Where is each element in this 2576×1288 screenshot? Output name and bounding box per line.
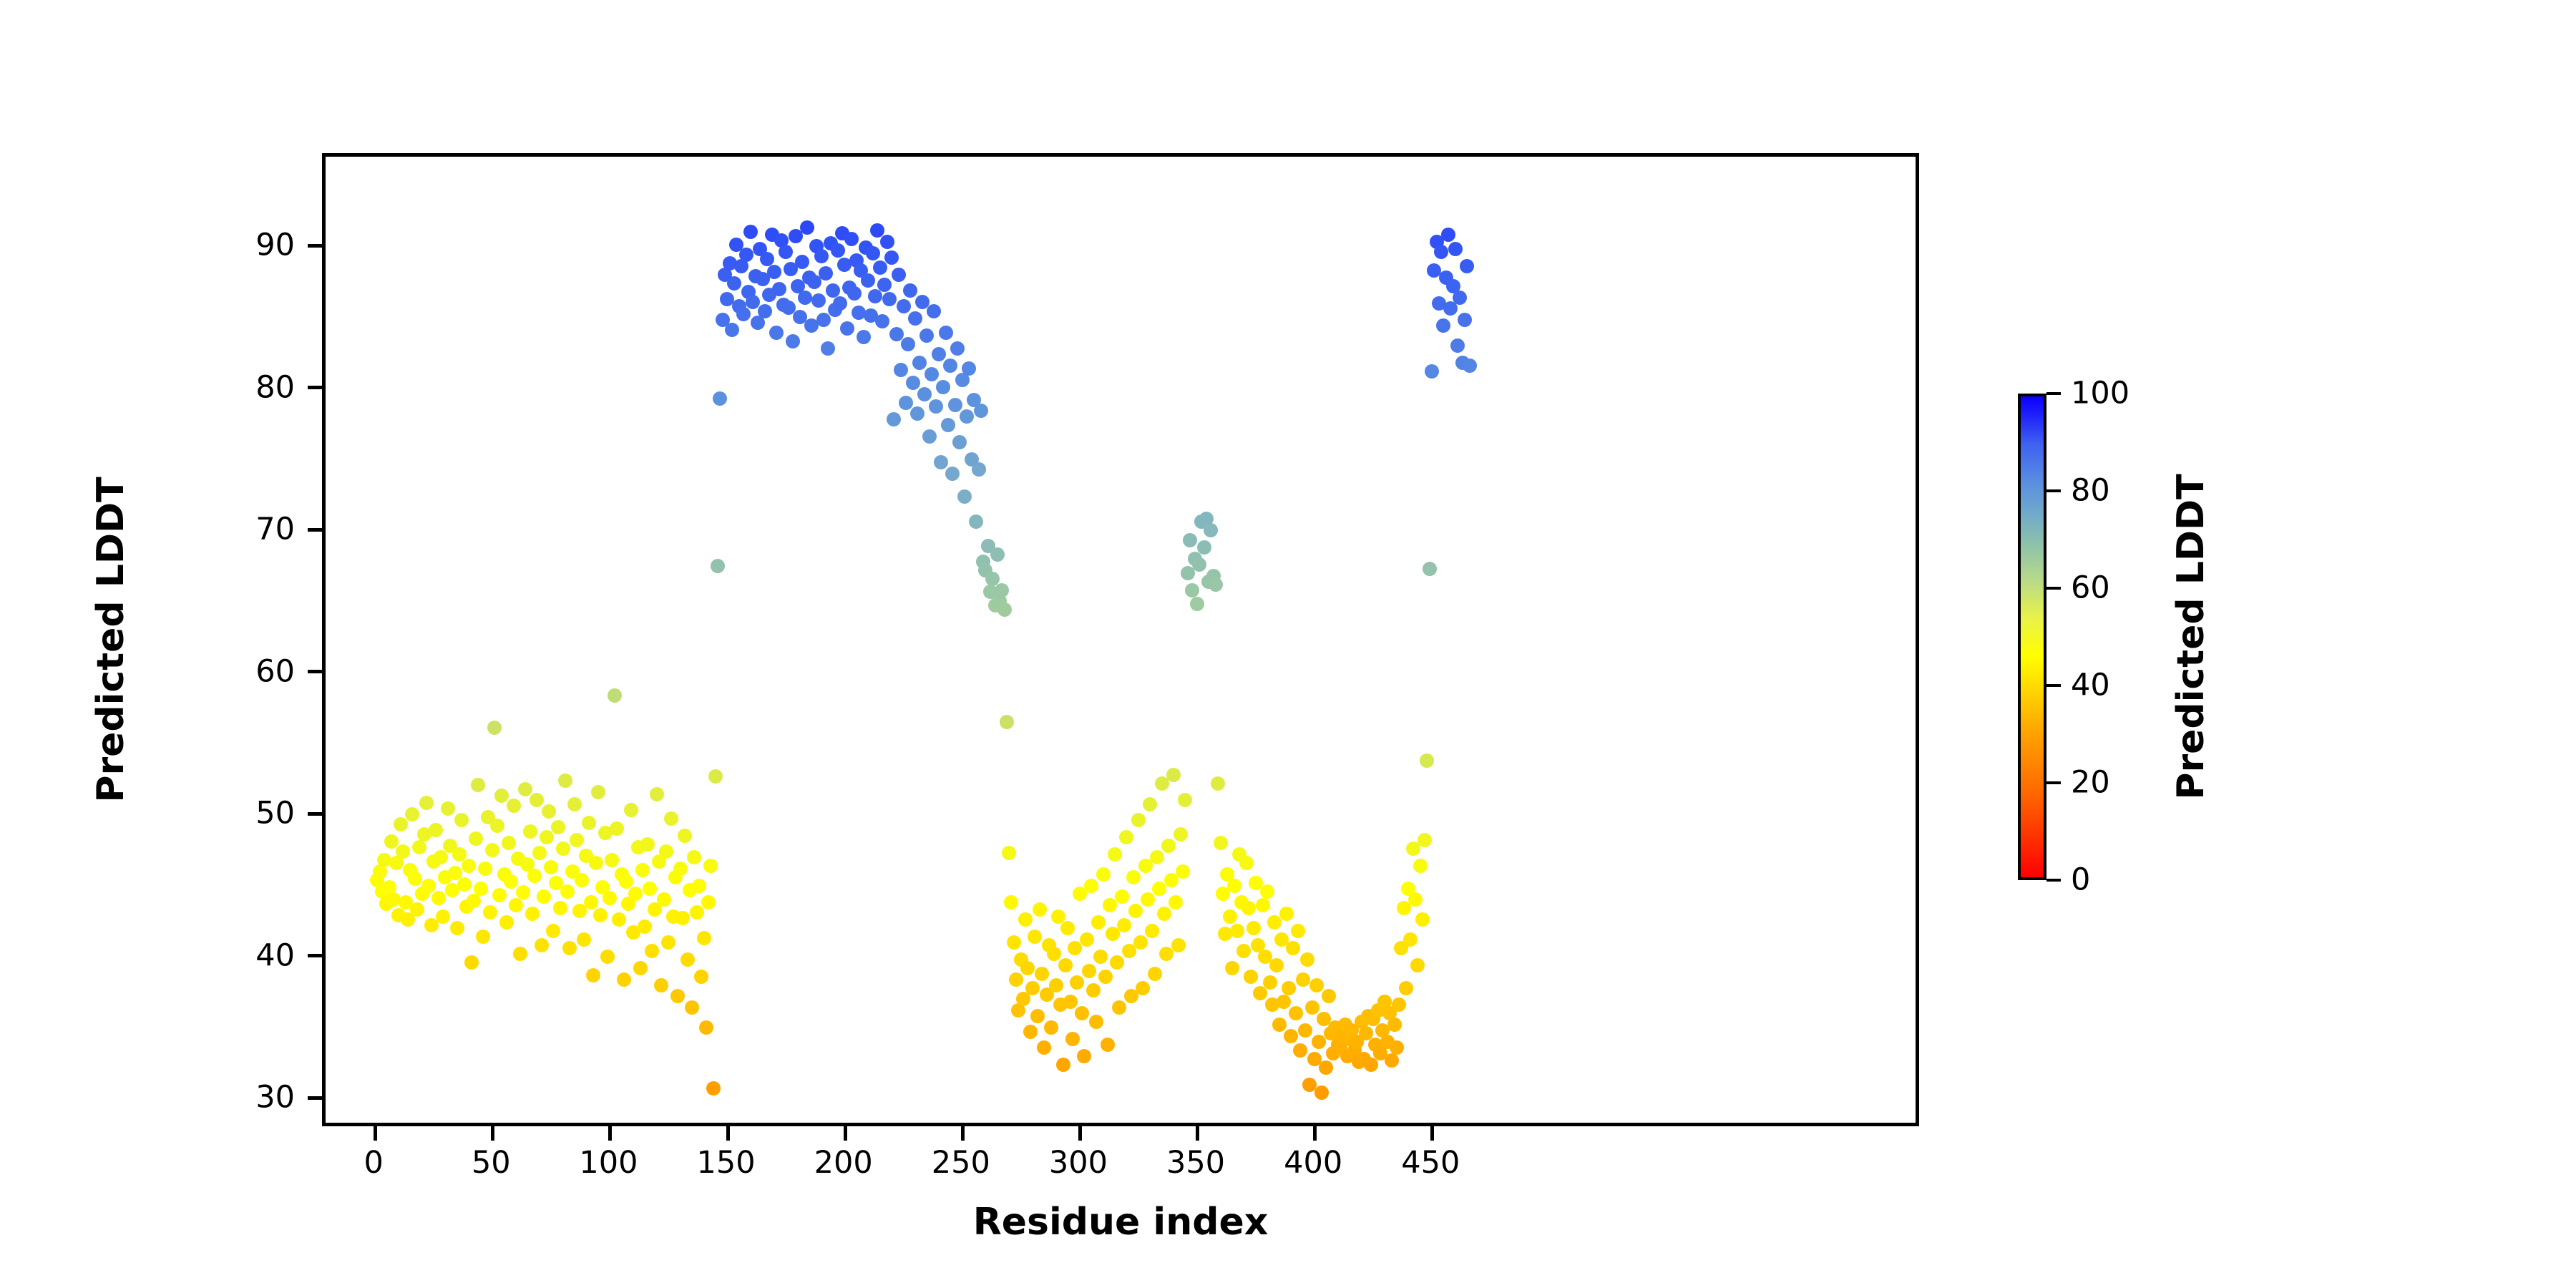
scatter-point	[1399, 981, 1413, 995]
scatter-point	[527, 869, 542, 883]
scatter-point	[1119, 830, 1133, 844]
scatter-point	[412, 840, 426, 854]
scatter-point	[912, 356, 927, 370]
scatter-point	[1298, 1023, 1312, 1038]
scatter-point	[478, 862, 492, 876]
scatter-point	[1289, 1006, 1303, 1020]
scatter-point	[485, 843, 499, 857]
scatter-point	[945, 467, 960, 481]
scatter-point	[919, 328, 934, 343]
scatter-point	[924, 367, 939, 381]
scatter-point	[1082, 964, 1096, 978]
scatter-point	[1000, 715, 1014, 729]
scatter-point	[1091, 915, 1106, 930]
x-axis-title: Residue index	[973, 1201, 1269, 1244]
scatter-point	[1387, 1018, 1402, 1032]
scatter-point	[431, 891, 446, 905]
scatter-point	[633, 961, 648, 975]
x-tick-label: 150	[697, 1148, 756, 1179]
y-tick-mark	[308, 670, 322, 673]
scatter-point	[816, 313, 831, 327]
scatter-point	[957, 489, 972, 504]
scatter-point	[661, 935, 675, 950]
scatter-point	[1033, 902, 1047, 917]
scatter-point	[405, 807, 419, 821]
scatter-point	[1236, 944, 1251, 958]
scatter-point	[725, 323, 739, 337]
y-tick-mark	[308, 386, 322, 389]
scatter-point	[467, 894, 481, 908]
scatter-point	[1322, 989, 1336, 1003]
scatter-point	[877, 278, 892, 292]
scatter-point	[934, 455, 948, 469]
y-tick-mark	[308, 812, 322, 816]
scatter-point	[840, 321, 854, 336]
scatter-point	[997, 602, 1012, 617]
scatter-point	[1227, 879, 1241, 893]
scatter-point	[628, 887, 643, 901]
scatter-point	[1183, 533, 1197, 547]
scatter-point	[932, 347, 946, 361]
scatter-point	[421, 879, 436, 893]
scatter-point	[711, 559, 725, 573]
scatter-point	[1065, 1032, 1080, 1046]
scatter-point	[464, 955, 479, 970]
scatter-point	[1136, 981, 1150, 995]
scatter-point	[593, 908, 608, 922]
scatter-point	[1192, 557, 1206, 572]
scatter-point	[703, 859, 718, 873]
colorbar-tick-label: 20	[2071, 768, 2110, 799]
y-axis-title: Predicted LDDT	[89, 477, 132, 802]
y-tick-label: 60	[255, 656, 295, 687]
x-tick-mark	[608, 1126, 612, 1141]
x-tick-mark	[491, 1126, 494, 1141]
scatter-point	[673, 862, 688, 876]
y-tick-mark	[308, 528, 322, 532]
scatter-point	[800, 220, 814, 235]
scatter-point	[556, 841, 570, 856]
x-tick-mark	[844, 1126, 847, 1141]
scatter-point	[436, 909, 450, 924]
scatter-point	[1115, 889, 1129, 904]
scatter-point	[1178, 793, 1192, 807]
x-tick-label: 100	[579, 1148, 638, 1179]
scatter-point	[936, 380, 950, 394]
scatter-point	[1068, 941, 1082, 955]
scatter-point	[1047, 947, 1061, 961]
scatter-point	[624, 803, 638, 817]
scatter-point	[1070, 975, 1084, 990]
scatter-point	[692, 879, 706, 893]
scatter-point	[1110, 955, 1124, 970]
scatter-point	[523, 824, 537, 839]
scatter-point	[1305, 1000, 1319, 1015]
x-tick-mark	[1430, 1126, 1434, 1141]
scatter-point	[1117, 918, 1131, 932]
scatter-point	[570, 833, 584, 847]
scatter-point	[1436, 318, 1450, 333]
x-tick-label: 400	[1284, 1148, 1342, 1179]
scatter-point	[1174, 827, 1188, 841]
scatter-point	[394, 817, 408, 831]
scatter-point	[638, 919, 652, 934]
scatter-point	[670, 989, 685, 1003]
scatter-point	[582, 816, 596, 830]
scatter-point	[941, 418, 955, 432]
scatter-point	[1214, 836, 1228, 850]
scatter-points-layer	[326, 157, 1916, 1123]
x-tick-mark	[1078, 1126, 1082, 1141]
scatter-point	[1086, 983, 1101, 997]
scatter-point	[1408, 892, 1423, 907]
x-tick-label: 350	[1166, 1148, 1225, 1179]
scatter-point	[1364, 1058, 1378, 1072]
scatter-point	[492, 888, 507, 902]
scatter-point	[1023, 1025, 1038, 1039]
y-tick-label: 40	[255, 940, 295, 971]
scatter-point	[602, 891, 617, 905]
scatter-point	[450, 921, 464, 935]
scatter-point	[678, 829, 692, 843]
scatter-point	[1148, 967, 1162, 981]
scatter-point	[1314, 1085, 1329, 1100]
colorbar-tick-mark	[2046, 879, 2061, 882]
scatter-point	[866, 246, 880, 260]
scatter-point	[675, 911, 690, 925]
scatter-point	[471, 778, 485, 792]
scatter-point	[1002, 846, 1016, 860]
scatter-point	[713, 391, 727, 406]
y-tick-label: 30	[255, 1083, 295, 1113]
scatter-point	[685, 1000, 699, 1015]
colorbar-tick-label: 80	[2071, 476, 2110, 507]
scatter-point	[708, 769, 723, 784]
scatter-point	[821, 341, 835, 356]
colorbar-gradient	[2018, 394, 2046, 880]
scatter-point	[1434, 245, 1448, 259]
scatter-point	[1126, 870, 1141, 884]
scatter-point	[880, 235, 894, 249]
scatter-point	[699, 1020, 713, 1035]
scatter-point	[1450, 338, 1465, 353]
scatter-point	[826, 283, 840, 298]
scatter-point	[894, 363, 908, 377]
x-tick-label: 250	[932, 1148, 990, 1179]
scatter-point	[892, 268, 906, 282]
scatter-point	[727, 276, 741, 291]
scatter-point	[462, 859, 476, 873]
scatter-point	[429, 823, 443, 837]
scatter-point	[1157, 907, 1171, 921]
scatter-point	[1145, 924, 1159, 938]
scatter-point	[908, 311, 922, 326]
scatter-point	[1103, 898, 1117, 912]
scatter-point	[1415, 912, 1430, 927]
scatter-point	[1150, 850, 1164, 864]
scatter-point	[857, 330, 871, 344]
y-tick-mark	[308, 1096, 322, 1100]
scatter-point	[1253, 986, 1267, 1000]
scatter-point	[939, 326, 953, 340]
scatter-point	[901, 337, 915, 351]
scatter-point	[1166, 768, 1181, 782]
x-tick-mark	[374, 1126, 377, 1141]
scatter-point	[1128, 904, 1143, 918]
scatter-point	[952, 435, 967, 449]
scatter-point	[448, 866, 462, 880]
scatter-point	[525, 907, 540, 921]
scatter-point	[1279, 907, 1294, 921]
scatter-point	[1063, 995, 1078, 1009]
scatter-point	[1241, 901, 1256, 915]
y-tick-label: 50	[255, 799, 295, 829]
scatter-point	[1093, 950, 1108, 964]
scatter-point	[546, 924, 560, 938]
scatter-point	[560, 884, 575, 899]
scatter-point	[950, 341, 965, 356]
scatter-point	[706, 1081, 721, 1096]
scatter-point	[680, 952, 695, 967]
scatter-point	[1077, 1049, 1091, 1063]
scatter-point	[743, 225, 758, 239]
colorbar-tick-label: 40	[2071, 670, 2110, 701]
scatter-point	[1190, 597, 1204, 611]
scatter-point	[605, 853, 619, 867]
scatter-point	[1300, 952, 1314, 967]
scatter-point	[962, 361, 976, 376]
scatter-point	[922, 429, 937, 444]
scatter-point	[1441, 228, 1455, 242]
scatter-point	[530, 793, 544, 807]
scatter-point	[1037, 1040, 1051, 1055]
scatter-point	[1204, 523, 1218, 537]
scatter-point	[875, 314, 889, 328]
scatter-point	[960, 409, 974, 424]
scatter-point	[1239, 856, 1254, 870]
scatter-point	[833, 296, 847, 311]
scatter-point	[1101, 1038, 1115, 1052]
scatter-point	[476, 930, 490, 944]
scatter-point	[1141, 892, 1155, 907]
scatter-point	[943, 358, 957, 373]
colorbar-tick-mark	[2046, 392, 2061, 395]
scatter-point	[1309, 978, 1324, 992]
x-tick-mark	[1196, 1126, 1199, 1141]
scatter-point	[537, 889, 551, 904]
scatter-point	[619, 874, 633, 889]
scatter-point	[575, 873, 589, 887]
scatter-point	[786, 334, 800, 348]
scatter-point	[779, 245, 793, 259]
scatter-point	[1211, 776, 1225, 791]
scatter-point	[457, 877, 472, 892]
scatter-point	[544, 860, 558, 874]
scatter-point	[1225, 961, 1239, 975]
scatter-point	[798, 291, 812, 305]
scatter-point	[499, 915, 514, 930]
scatter-point	[640, 837, 655, 852]
scatter-point	[1296, 972, 1310, 987]
scatter-point	[690, 905, 704, 919]
scatter-point	[1272, 1018, 1287, 1032]
scatter-point	[929, 399, 943, 414]
scatter-point	[906, 376, 920, 390]
scatter-point	[1244, 970, 1258, 984]
scatter-point	[882, 292, 897, 306]
scatter-point	[819, 266, 833, 280]
colorbar-tick-mark	[2046, 489, 2061, 492]
scatter-point	[1096, 867, 1111, 882]
scatter-point	[917, 387, 932, 401]
scatter-point	[1223, 909, 1237, 924]
scatter-point	[1058, 958, 1073, 972]
figure-canvas: 050100150200250300350400450 304050607080…	[0, 0, 2576, 1288]
colorbar-tick-label: 60	[2071, 573, 2110, 604]
scatter-point	[1131, 813, 1146, 827]
scatter-point	[1458, 313, 1472, 327]
scatter-point	[483, 905, 497, 919]
scatter-point	[659, 844, 673, 859]
scatter-point	[608, 688, 622, 703]
x-tick-label: 0	[364, 1148, 384, 1179]
scatter-point	[1284, 1029, 1298, 1043]
scatter-point	[795, 255, 809, 269]
scatter-point	[617, 972, 631, 987]
scatter-point	[1007, 935, 1021, 950]
scatter-point	[384, 834, 399, 849]
scatter-point	[1291, 924, 1305, 938]
y-tick-mark	[308, 954, 322, 957]
scatter-point	[760, 252, 774, 266]
scatter-point	[540, 830, 554, 844]
colorbar-tick-mark	[2046, 684, 2061, 687]
scatter-point	[995, 583, 1009, 597]
scatter-point	[1176, 864, 1190, 879]
scatter-point	[1089, 1015, 1103, 1029]
scatter-point	[542, 804, 556, 819]
scatter-point	[948, 398, 962, 412]
scatter-point	[1425, 364, 1439, 379]
scatter-point	[772, 282, 786, 296]
scatter-point	[502, 836, 516, 850]
scatter-point	[811, 293, 826, 308]
scatter-point	[1018, 912, 1033, 927]
scatter-point	[927, 304, 941, 318]
scatter-point	[1030, 1009, 1045, 1023]
scatter-point	[1112, 1000, 1126, 1015]
scatter-point	[1286, 941, 1300, 955]
scatter-point	[577, 932, 591, 947]
scatter-point	[562, 941, 577, 955]
scatter-point	[612, 912, 626, 927]
scatter-point	[650, 787, 664, 801]
scatter-point	[1075, 1006, 1089, 1020]
scatter-point	[1277, 995, 1291, 1009]
scatter-point	[589, 856, 603, 870]
scatter-point	[513, 947, 527, 961]
scatter-point	[844, 232, 859, 246]
scatter-point	[831, 243, 845, 258]
x-tick-mark	[726, 1126, 730, 1141]
scatter-point	[972, 462, 986, 477]
scatter-point	[1020, 961, 1035, 975]
scatter-point	[487, 721, 502, 735]
scatter-point	[441, 801, 455, 816]
scatter-point	[509, 898, 523, 912]
scatter-point	[567, 797, 582, 811]
scatter-point	[1209, 577, 1223, 592]
scatter-point	[664, 811, 678, 826]
scatter-point	[518, 782, 532, 796]
scatter-point	[469, 831, 483, 846]
y-tick-label: 70	[255, 514, 295, 545]
scatter-point	[1460, 259, 1474, 273]
scatter-point	[781, 301, 796, 315]
scatter-point	[1282, 981, 1296, 995]
scatter-point	[1390, 1040, 1404, 1055]
scatter-point	[1230, 924, 1244, 938]
scatter-point	[657, 892, 671, 907]
scatter-point	[1413, 859, 1428, 873]
colorbar-tick-mark	[2046, 781, 2061, 784]
scatter-point	[610, 821, 624, 836]
scatter-point	[1410, 958, 1425, 972]
scatter-point	[767, 265, 781, 279]
scatter-point	[1448, 242, 1463, 256]
scatter-point	[1080, 932, 1094, 947]
scatter-point	[434, 850, 448, 864]
scatter-point	[746, 295, 760, 309]
scatter-point	[1004, 895, 1018, 909]
scatter-point	[1256, 898, 1270, 912]
scatter-point	[739, 248, 753, 262]
scatter-point	[645, 944, 659, 958]
scatter-point	[1133, 935, 1148, 950]
scatter-point	[584, 895, 598, 909]
scatter-point	[558, 774, 572, 788]
scatter-point	[474, 882, 488, 896]
scatter-point	[990, 547, 1005, 562]
x-tick-mark	[1313, 1126, 1317, 1141]
y-tick-label: 90	[255, 230, 295, 261]
scatter-point	[586, 968, 600, 982]
scatter-point	[1293, 1043, 1307, 1058]
scatter-point	[1044, 1020, 1058, 1035]
x-tick-label: 450	[1401, 1148, 1460, 1179]
scatter-point	[600, 950, 615, 964]
scatter-point	[494, 789, 509, 803]
scatter-point	[504, 874, 518, 889]
scatter-point	[974, 404, 988, 418]
scatter-point	[1028, 930, 1042, 944]
x-tick-mark	[961, 1126, 965, 1141]
scatter-point	[1263, 975, 1277, 990]
scatter-point	[1171, 938, 1186, 952]
scatter-point	[1420, 753, 1434, 768]
scatter-point	[1159, 947, 1174, 961]
scatter-point	[847, 286, 862, 301]
colorbar-tick-label: 100	[2071, 379, 2129, 409]
scatter-point	[591, 785, 605, 799]
scatter-point	[897, 299, 911, 313]
scatter-point	[1025, 981, 1040, 995]
scatter-point	[758, 304, 772, 318]
scatter-point	[1049, 978, 1063, 992]
scatter-point	[535, 938, 549, 952]
scatter-point	[903, 283, 917, 298]
scatter-point	[1246, 921, 1261, 935]
